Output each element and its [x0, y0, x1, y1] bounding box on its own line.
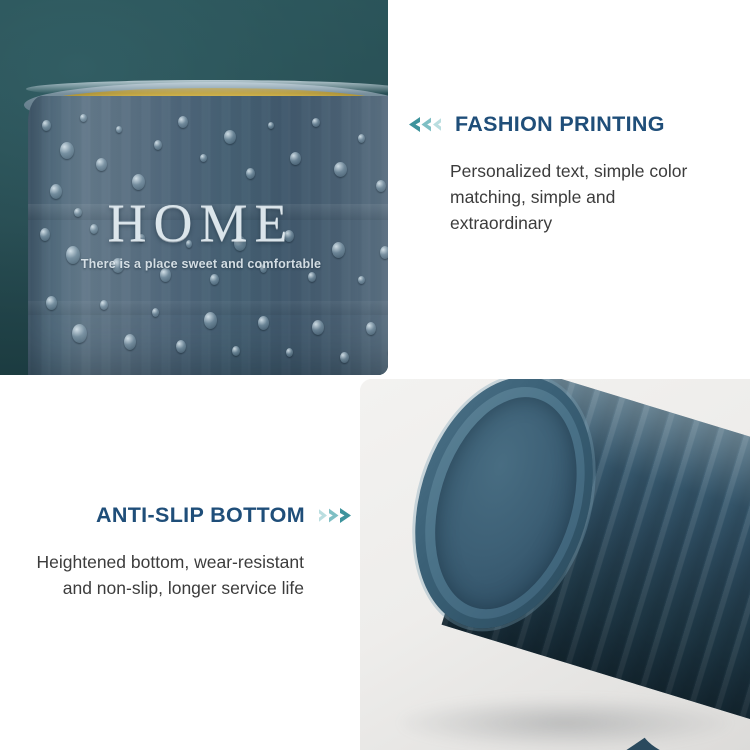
fashion-printing-headline: FASHION PRINTING — [455, 112, 665, 137]
product-photo-fashion-printing: HOME There is a place sweet and comforta… — [0, 0, 388, 375]
chevron-right-icon — [318, 507, 352, 524]
infographic-canvas: HOME There is a place sweet and comforta… — [0, 0, 750, 750]
anti-slip-heading-row: ANTI-SLIP BOTTOM — [22, 503, 352, 528]
chevron-left-icon — [408, 116, 442, 133]
fashion-printing-heading-row: FASHION PRINTING — [408, 112, 708, 137]
anti-slip-headline: ANTI-SLIP BOTTOM — [96, 503, 305, 528]
product-photo-anti-slip-bottom — [360, 379, 750, 750]
feature-block-anti-slip-bottom: ANTI-SLIP BOTTOM Heightened bottom, wear… — [22, 503, 352, 602]
cup-branding: HOME There is a place sweet and comforta… — [0, 196, 388, 271]
feature-block-fashion-printing: FASHION PRINTING Personalized text, simp… — [408, 112, 708, 237]
fashion-printing-body: Personalized text, simple color matching… — [408, 159, 712, 237]
brand-name: HOME — [14, 196, 388, 250]
anti-slip-body: Heightened bottom, wear-resistant and no… — [22, 550, 352, 602]
cup-seam-lower — [28, 301, 388, 315]
brand-tagline: There is a place sweet and comfortable — [14, 257, 388, 271]
